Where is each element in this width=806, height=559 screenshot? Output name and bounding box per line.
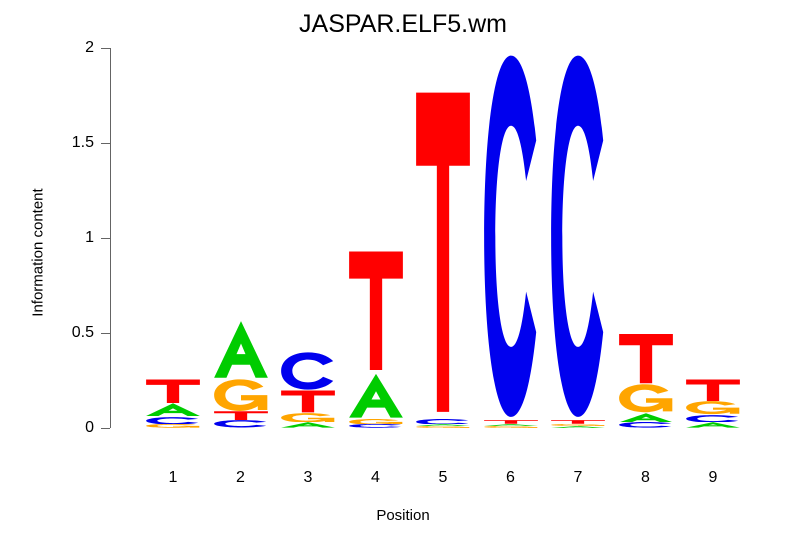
logo-letter-c [348, 424, 404, 428]
y-axis-tick [101, 48, 110, 49]
logo-letter-a [685, 422, 741, 428]
logo-letter-t [618, 333, 674, 384]
logo-letter-g [618, 384, 674, 413]
logo-letter-t [415, 86, 471, 419]
x-tick-label: 3 [288, 470, 328, 486]
logo-letter-g [145, 424, 201, 428]
logo-letter-g [280, 413, 336, 423]
x-tick-label: 1 [153, 470, 193, 486]
logo-letter-g [685, 401, 741, 414]
y-tick-label: 1.5 [48, 135, 94, 151]
logo-letter-c [618, 422, 674, 428]
y-axis-line [110, 48, 111, 428]
x-axis-label: Position [0, 507, 806, 524]
y-axis-tick [101, 143, 110, 144]
x-tick-label: 8 [626, 470, 666, 486]
logo-letter-g [348, 419, 404, 425]
logo-letter-t [213, 411, 269, 421]
logo-letter-t [348, 249, 404, 373]
y-axis-tick [101, 428, 110, 429]
x-tick-label: 6 [491, 470, 531, 486]
logo-letter-c [415, 419, 471, 425]
logo-letter-c [685, 415, 741, 423]
logo-letter-t [280, 390, 336, 413]
y-tick-label: 0 [48, 420, 94, 436]
logo-letter-t [685, 379, 741, 402]
logo-letter-a [415, 424, 471, 426]
logo-letter-a [550, 426, 606, 428]
logo-letter-g [415, 426, 471, 428]
logo-letter-t [483, 420, 539, 424]
logo-letter-c [145, 417, 201, 425]
y-tick-label: 0.5 [48, 325, 94, 341]
logo-letter-a [213, 320, 269, 379]
logo-letter-a [145, 403, 201, 416]
x-tick-label: 5 [423, 470, 463, 486]
logo-letter-g [550, 424, 606, 426]
page-title: JASPAR.ELF5.wm [0, 10, 806, 39]
logo-letter-g [213, 379, 269, 411]
logo-letter-a [618, 413, 674, 423]
logo-letter-a [348, 373, 404, 419]
logo-letter-g [483, 426, 539, 428]
logo-letter-c [550, 52, 606, 421]
sequence-logo-plot: JASPAR.ELF5.wm Information content Posit… [0, 0, 806, 559]
logo-letter-c [483, 52, 539, 421]
logo-letter-t [145, 379, 201, 404]
logo-letter-a [280, 422, 336, 428]
y-axis-tick [101, 333, 110, 334]
logo-letter-a [483, 424, 539, 426]
x-tick-label: 9 [693, 470, 733, 486]
y-axis-label: Information content [30, 123, 47, 383]
y-axis-tick [101, 238, 110, 239]
logo-letter-c [213, 420, 269, 428]
y-tick-label: 2 [48, 40, 94, 56]
y-tick-label: 1 [48, 230, 94, 246]
x-tick-label: 2 [221, 470, 261, 486]
logo-letter-c [280, 352, 336, 390]
x-tick-label: 4 [356, 470, 396, 486]
logo-letter-t [550, 420, 606, 424]
x-tick-label: 7 [558, 470, 598, 486]
